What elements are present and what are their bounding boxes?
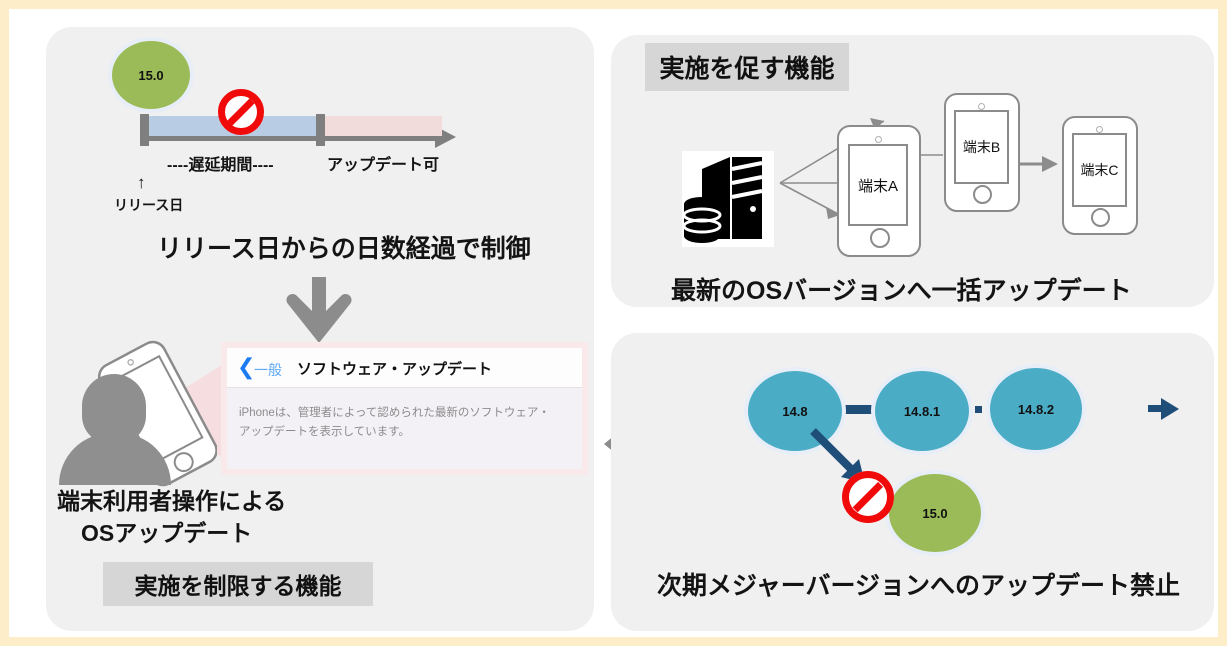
device-b: 端末B: [944, 93, 1020, 212]
home-button-icon: [973, 185, 992, 204]
no-entry-icon: [842, 471, 894, 523]
caption-major-version-ban: 次期メジャーバージョンへのアップデート禁止: [657, 566, 1180, 602]
caption-user-operation-line2: OSアップデート: [81, 514, 252, 548]
version-circle-150-blocked: 15.0: [889, 474, 981, 552]
timeline-tick-delay-end: [316, 114, 325, 146]
update-allowed-label: アップデート可: [327, 151, 439, 175]
version-link-148-1481: [840, 405, 880, 414]
badge-promote-features: 実施を促す機能: [645, 43, 849, 91]
delay-period-label: ----遅延期間----: [167, 151, 274, 175]
release-day-arrow-icon: ↑: [137, 173, 146, 193]
version-circle-1482: 14.8.2: [990, 368, 1082, 450]
server-database-icon: [682, 151, 774, 247]
caption-user-operation-line1: 端末利用者操作による: [57, 482, 286, 516]
release-day-label: リリース日: [114, 195, 183, 215]
device-c: 端末C: [1062, 116, 1138, 235]
speaker-dot-icon: [1096, 126, 1103, 133]
device-b-label: 端末B: [954, 110, 1009, 184]
home-button-icon: [870, 228, 890, 248]
no-entry-icon: [218, 89, 264, 135]
caption-bulk-update: 最新のOSバージョンへ一括アップデート: [671, 271, 1132, 307]
ios-body-text: iPhoneは、管理者によって認められた最新のソフトウェア・ アップデートを表示…: [239, 404, 569, 442]
timeline-updateok-band: [325, 116, 442, 136]
timeline-tick-release: [140, 114, 149, 146]
speaker-dot-icon: [978, 103, 985, 110]
ios-body-line-1: iPhoneは、管理者によって認められた最新のソフトウェア・: [239, 404, 569, 423]
device-c-label: 端末C: [1072, 133, 1127, 207]
version-link-dot: [975, 406, 982, 413]
badge-restrict-features: 実施を制限する機能: [103, 562, 373, 606]
home-button-icon: [1091, 208, 1110, 227]
device-a-label: 端末A: [848, 144, 908, 226]
outer-frame: 15.0 ----遅延期間---- アップデート可 ↑ リリース日 リリース日か…: [0, 0, 1227, 646]
ios-body-line-2: アップデートを表示しています。: [239, 423, 569, 442]
caption-control-by-days: リリース日からの日数経過で制御: [157, 229, 531, 265]
ios-back-label[interactable]: 一般: [254, 360, 282, 380]
arrow-down-icon: [282, 277, 356, 343]
speaker-dot-icon: [875, 136, 882, 143]
back-chevron-icon[interactable]: ❮: [237, 357, 255, 377]
arrow-right-icon: [1161, 398, 1179, 420]
version-circle-1481: 14.8.1: [875, 371, 969, 451]
ios-page-title: ソフトウェア・アップデート: [297, 358, 492, 379]
device-a: 端末A: [837, 125, 921, 257]
version-circle-15-top: 15.0: [112, 41, 190, 109]
